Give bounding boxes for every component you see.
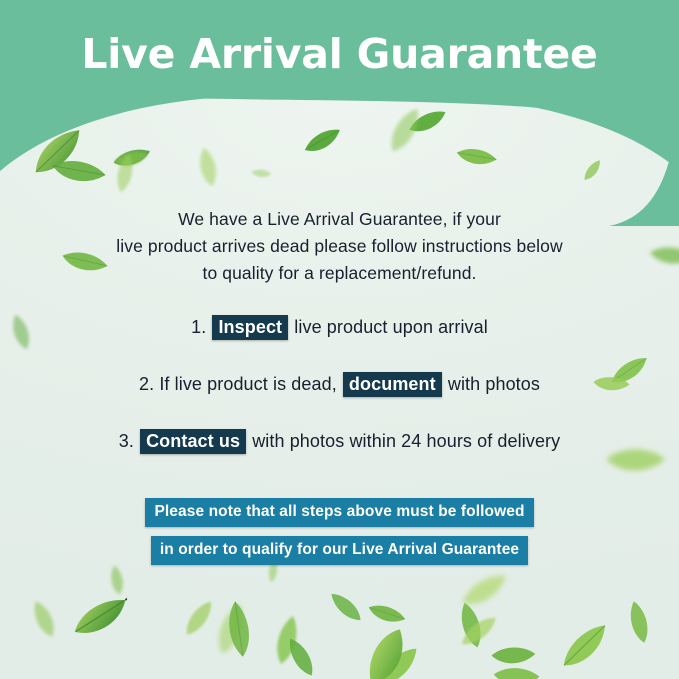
step-highlight-inspect[interactable]: Inspect xyxy=(212,315,288,340)
step-item-1: 1. Inspect live product upon arrival xyxy=(0,315,679,340)
footer-note-row-1: Please note that all steps above must be… xyxy=(0,498,679,527)
live-arrival-guarantee-poster: Live Arrival Guarantee xyxy=(0,0,679,679)
step-item-3: 3. Contact us with photos within 24 hour… xyxy=(0,429,679,454)
main-content: We have a Live Arrival Guarantee, if you… xyxy=(0,206,679,454)
intro-line-1: We have a Live Arrival Guarantee, if you… xyxy=(178,209,501,229)
step-item-2: 2. If live product is dead, document wit… xyxy=(0,372,679,397)
intro-line-2: live product arrives dead please follow … xyxy=(116,236,562,256)
step-text-before: If live product is dead, xyxy=(159,374,337,394)
page-title: Live Arrival Guarantee xyxy=(0,30,679,78)
intro-paragraph: We have a Live Arrival Guarantee, if you… xyxy=(60,206,620,287)
step-number: 2. xyxy=(139,374,154,394)
footer-notes: Please note that all steps above must be… xyxy=(0,498,679,565)
footer-note-line-1: Please note that all steps above must be… xyxy=(145,498,533,527)
intro-line-3: to quality for a replacement/refund. xyxy=(202,263,476,283)
step-text-after: live product upon arrival xyxy=(294,317,488,337)
step-number: 1. xyxy=(191,317,206,337)
step-number: 3. xyxy=(119,431,134,451)
footer-note-line-2: in order to qualify for our Live Arrival… xyxy=(151,536,528,565)
footer-note-row-2: in order to qualify for our Live Arrival… xyxy=(0,536,679,565)
steps-list: 1. Inspect live product upon arrival 2. … xyxy=(0,315,679,454)
step-highlight-document[interactable]: document xyxy=(343,372,442,397)
step-text-after: with photos within 24 hours of delivery xyxy=(252,431,560,451)
step-text-after: with photos xyxy=(448,374,540,394)
step-highlight-contact-us[interactable]: Contact us xyxy=(140,429,246,454)
